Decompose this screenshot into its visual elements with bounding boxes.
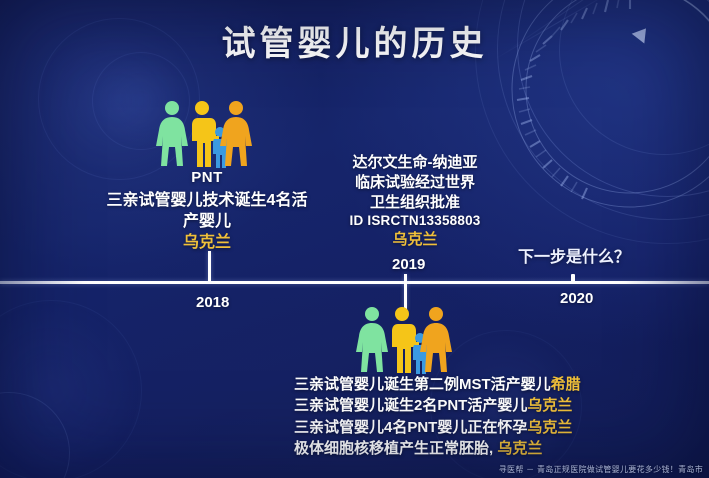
watermark-text: 寻医帮 － 青岛正规医院做试管婴儿要花多少钱！青岛市 <box>499 464 703 475</box>
text-block-bottom: 三亲试管婴儿诞生第二例MST活产婴儿希腊 三亲试管婴儿诞生2名PNT活产婴儿乌克… <box>294 374 634 459</box>
timeline-stem-2019 <box>404 274 407 310</box>
timeline-tick-2020 <box>571 274 575 283</box>
timeline-stem-2018 <box>208 251 211 282</box>
middle-line-1: 达尔文生命-纳迪亚 <box>325 153 505 173</box>
bottom-row-text: 极体细胞核移植产生正常胚胎, <box>294 440 497 457</box>
bottom-row-country: 希腊 <box>551 376 581 393</box>
bottom-row-country: 乌克兰 <box>527 397 572 414</box>
family-icon-top <box>156 100 254 168</box>
background-arc-ring <box>0 392 70 478</box>
bottom-row-country: 乌克兰 <box>497 440 542 457</box>
timeline-year-2019: 2019 <box>392 256 425 273</box>
left-body-line-1: 三亲试管婴儿技术诞生4名活 <box>92 190 322 211</box>
family-icon-bottom <box>356 306 454 374</box>
bottom-row-text: 三亲试管婴儿诞生第二例MST活产婴儿 <box>294 376 551 393</box>
middle-line-3: 卫生组织批准 <box>325 193 505 213</box>
left-country: 乌克兰 <box>92 232 322 253</box>
bottom-row-text: 三亲试管婴儿4名PNT婴儿正在怀孕 <box>294 419 527 436</box>
middle-country: 乌克兰 <box>325 230 505 250</box>
page-title: 试管婴儿的历史 <box>0 16 709 65</box>
bottom-row: 三亲试管婴儿诞生2名PNT活产婴儿乌克兰 <box>294 395 634 416</box>
left-heading: PNT <box>92 168 322 188</box>
next-step-label: 下一步是什么？ <box>518 243 630 267</box>
bottom-row: 三亲试管婴儿4名PNT婴儿正在怀孕乌克兰 <box>294 417 634 438</box>
left-body-line-2: 产婴儿 <box>92 211 322 232</box>
text-block-left: PNT 三亲试管婴儿技术诞生4名活 产婴儿 乌克兰 <box>92 168 322 253</box>
bottom-row: 极体细胞核移植产生正常胚胎, 乌克兰 <box>294 438 634 459</box>
bottom-row-country: 乌克兰 <box>527 419 572 436</box>
timeline-year-2018: 2018 <box>196 294 229 311</box>
bottom-row: 三亲试管婴儿诞生第二例MST活产婴儿希腊 <box>294 374 634 395</box>
timeline-year-2020: 2020 <box>560 290 593 307</box>
slide-canvas: 试管婴儿的历史 <box>0 0 709 478</box>
background-glow-circle <box>0 300 142 478</box>
bottom-row-text: 三亲试管婴儿诞生2名PNT活产婴儿 <box>294 397 527 414</box>
text-block-middle: 达尔文生命-纳迪亚 临床试验经过世界 卫生组织批准 ID ISRCTN13358… <box>325 153 505 250</box>
middle-trial-id: ID ISRCTN13358803 <box>325 212 505 230</box>
timeline-axis <box>0 281 709 284</box>
middle-line-2: 临床试验经过世界 <box>325 173 505 193</box>
